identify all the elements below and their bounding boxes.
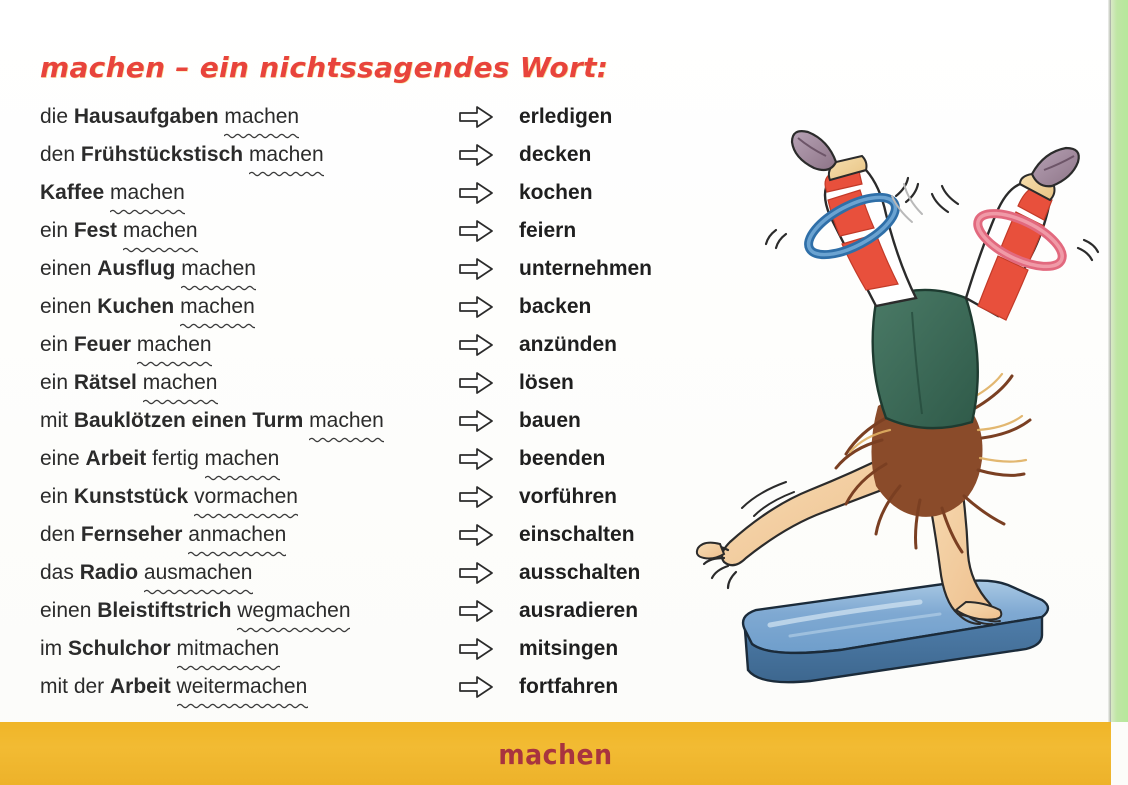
phrase-verb-machen: mitmachen xyxy=(177,635,280,662)
hollow-right-arrow-icon xyxy=(459,486,493,508)
collocation-row: die Hausaufgaben machenerledigen xyxy=(0,103,760,141)
phrase-cell: mit der Arbeit weitermachen xyxy=(0,673,445,700)
collocation-row: ein Rätsel machenlösen xyxy=(0,369,760,407)
arrow-cell xyxy=(445,407,507,432)
answer-verb: bauen xyxy=(507,407,581,434)
phrase-modifier: fertig xyxy=(152,447,205,470)
wavy-underline xyxy=(224,131,299,139)
answer-verb: anzünden xyxy=(507,331,617,358)
answer-verb: beenden xyxy=(507,445,605,472)
page-edge-green xyxy=(1111,0,1128,722)
phrase-keyword: Kaffee xyxy=(40,181,104,204)
answer-verb: unternehmen xyxy=(507,255,652,282)
phrase-article: ein xyxy=(40,371,74,394)
collocation-list: die Hausaufgaben machenerledigenden Früh… xyxy=(0,103,760,711)
answer-verb: vorführen xyxy=(507,483,617,510)
gym-mat xyxy=(743,581,1048,683)
phrase-verb-machen: machen xyxy=(143,369,218,396)
phrase-verb-machen: machen xyxy=(224,103,299,130)
wavy-underline xyxy=(188,549,286,557)
collocation-row: eine Arbeit fertig machenbeenden xyxy=(0,445,760,483)
phrase-cell: ein Feuer machen xyxy=(0,331,445,358)
phrase-cell: einen Ausflug machen xyxy=(0,255,445,282)
phrase-article: ein xyxy=(40,219,74,242)
hair xyxy=(836,350,1030,552)
collocation-row: mit der Arbeit weitermachenfortfahren xyxy=(0,673,760,711)
phrase-keyword: Arbeit xyxy=(86,447,147,470)
phrase-verb-machen: machen xyxy=(180,293,255,320)
phrase-article: im xyxy=(40,637,68,660)
arrow-cell xyxy=(445,255,507,280)
answer-verb: erledigen xyxy=(507,103,612,130)
arrow-cell xyxy=(445,483,507,508)
shorts xyxy=(873,290,978,428)
phrase-cell: eine Arbeit fertig machen xyxy=(0,445,445,472)
answer-verb: ausschalten xyxy=(507,559,640,586)
wavy-underline xyxy=(309,435,384,443)
phrase-verb-machen: machen xyxy=(309,407,384,434)
hollow-right-arrow-icon xyxy=(459,182,493,204)
wavy-underline xyxy=(144,587,253,595)
phrase-cell: ein Kunststück vormachen xyxy=(0,483,445,510)
collocation-row: den Fernseher anmacheneinschalten xyxy=(0,521,760,559)
hollow-right-arrow-icon xyxy=(459,524,493,546)
hollow-right-arrow-icon xyxy=(459,258,493,280)
phrase-cell: das Radio ausmachen xyxy=(0,559,445,586)
phrase-keyword: Bleistiftstrich xyxy=(97,599,231,622)
phrase-article: ein xyxy=(40,333,74,356)
phrase-verb-machen: anmachen xyxy=(188,521,286,548)
hollow-right-arrow-icon xyxy=(459,600,493,622)
phrase-keyword: Fernseher xyxy=(81,523,183,546)
wavy-underline xyxy=(177,663,280,671)
phrase-keyword: Hausaufgaben xyxy=(74,105,219,128)
phrase-article: eine xyxy=(40,447,86,470)
wavy-underline xyxy=(181,283,256,291)
collocation-row: einen Ausflug machenunternehmen xyxy=(0,255,760,293)
phrase-keyword: Bauklötzen einen Turm xyxy=(74,409,303,432)
phrase-keyword: Radio xyxy=(80,561,138,584)
footer-banner: machen xyxy=(0,722,1111,785)
arrow-cell xyxy=(445,597,507,622)
phrase-keyword: Kuchen xyxy=(97,295,174,318)
phrase-keyword: Kunststück xyxy=(74,485,188,508)
hollow-right-arrow-icon xyxy=(459,334,493,356)
worksheet-page: machen – ein nichtssagendes Wort: die Ha… xyxy=(0,0,1128,785)
collocation-row: ein Kunststück vormachenvorführen xyxy=(0,483,760,521)
collocation-row: Kaffee machenkochen xyxy=(0,179,760,217)
phrase-cell: einen Kuchen machen xyxy=(0,293,445,320)
footer-word: machen xyxy=(0,738,1111,771)
left-leg xyxy=(766,131,918,306)
hollow-right-arrow-icon xyxy=(459,144,493,166)
phrase-verb-machen: ausmachen xyxy=(144,559,253,586)
answer-verb: ausradieren xyxy=(507,597,638,624)
hollow-right-arrow-icon xyxy=(459,448,493,470)
phrase-keyword: Ausflug xyxy=(97,257,175,280)
phrase-article: mit xyxy=(40,409,74,432)
collocation-row: das Radio ausmachenausschalten xyxy=(0,559,760,597)
page-title: machen – ein nichtssagendes Wort: xyxy=(40,51,608,84)
arrow-cell xyxy=(445,293,507,318)
answer-verb: kochen xyxy=(507,179,593,206)
answer-verb: backen xyxy=(507,293,591,320)
right-leg xyxy=(892,148,1098,320)
hollow-right-arrow-icon xyxy=(459,562,493,584)
phrase-keyword: Fest xyxy=(74,219,117,242)
phrase-verb-machen: machen xyxy=(205,445,280,472)
arrow-cell xyxy=(445,635,507,660)
phrase-article: einen xyxy=(40,599,97,622)
phrase-article: einen xyxy=(40,295,97,318)
arrow-cell xyxy=(445,217,507,242)
phrase-cell: den Fernseher anmachen xyxy=(0,521,445,548)
collocation-row: im Schulchor mitmachenmitsingen xyxy=(0,635,760,673)
wavy-underline xyxy=(143,397,218,405)
collocation-row: mit Bauklötzen einen Turm machenbauen xyxy=(0,407,760,445)
wavy-underline xyxy=(180,321,255,329)
collocation-row: einen Bleistiftstrich wegmachenausradier… xyxy=(0,597,760,635)
phrase-keyword: Arbeit xyxy=(110,675,171,698)
phrase-keyword: Frühstückstisch xyxy=(81,143,243,166)
phrase-verb-machen: weitermachen xyxy=(177,673,308,700)
wavy-underline xyxy=(205,473,280,481)
phrase-verb-machen: machen xyxy=(137,331,212,358)
hollow-right-arrow-icon xyxy=(459,410,493,432)
phrase-article: einen xyxy=(40,257,97,280)
phrase-cell: mit Bauklötzen einen Turm machen xyxy=(0,407,445,434)
hollow-right-arrow-icon xyxy=(459,676,493,698)
collocation-row: ein Feuer machenanzünden xyxy=(0,331,760,369)
torso xyxy=(884,404,980,505)
wavy-underline xyxy=(110,207,185,215)
hollow-right-arrow-icon xyxy=(459,296,493,318)
answer-verb: lösen xyxy=(507,369,574,396)
wavy-underline xyxy=(249,169,324,177)
phrase-verb-machen: machen xyxy=(181,255,256,282)
answer-verb: decken xyxy=(507,141,591,168)
wavy-underline xyxy=(123,245,198,253)
collocation-row: einen Kuchen machenbacken xyxy=(0,293,760,331)
wavy-underline xyxy=(194,511,298,519)
hollow-right-arrow-icon xyxy=(459,106,493,128)
answer-verb: feiern xyxy=(507,217,576,244)
arrow-cell xyxy=(445,179,507,204)
arrow-cell xyxy=(445,445,507,470)
phrase-verb-machen: machen xyxy=(123,217,198,244)
phrase-verb-machen: wegmachen xyxy=(237,597,350,624)
collocation-row: den Frühstückstisch machendecken xyxy=(0,141,760,179)
phrase-article: das xyxy=(40,561,80,584)
wavy-underline xyxy=(177,701,308,709)
phrase-keyword: Feuer xyxy=(74,333,131,356)
arrow-cell xyxy=(445,331,507,356)
wavy-underline xyxy=(137,359,212,367)
support-arm xyxy=(922,460,1001,624)
arrow-cell xyxy=(445,673,507,698)
collocation-row: ein Fest machenfeiern xyxy=(0,217,760,255)
wavy-underline xyxy=(237,625,350,633)
phrase-verb-machen: machen xyxy=(249,141,324,168)
arrow-cell xyxy=(445,103,507,128)
phrase-article: ein xyxy=(40,485,74,508)
phrase-cell: einen Bleistiftstrich wegmachen xyxy=(0,597,445,624)
answer-verb: fortfahren xyxy=(507,673,618,700)
hollow-right-arrow-icon xyxy=(459,372,493,394)
phrase-article: die xyxy=(40,105,74,128)
phrase-article: mit der xyxy=(40,675,110,698)
phrase-verb-machen: machen xyxy=(110,179,185,206)
answer-verb: einschalten xyxy=(507,521,635,548)
phrase-cell: im Schulchor mitmachen xyxy=(0,635,445,662)
arrow-cell xyxy=(445,369,507,394)
arrow-cell xyxy=(445,521,507,546)
hollow-right-arrow-icon xyxy=(459,638,493,660)
phrase-cell: die Hausaufgaben machen xyxy=(0,103,445,130)
phrase-keyword: Rätsel xyxy=(74,371,137,394)
phrase-article: den xyxy=(40,143,81,166)
phrase-cell: den Frühstückstisch machen xyxy=(0,141,445,168)
hollow-right-arrow-icon xyxy=(459,220,493,242)
phrase-article: den xyxy=(40,523,81,546)
arrow-cell xyxy=(445,559,507,584)
phrase-cell: ein Fest machen xyxy=(0,217,445,244)
phrase-verb-machen: vormachen xyxy=(194,483,298,510)
phrase-cell: Kaffee machen xyxy=(0,179,445,206)
phrase-cell: ein Rätsel machen xyxy=(0,369,445,396)
phrase-keyword: Schulchor xyxy=(68,637,171,660)
answer-verb: mitsingen xyxy=(507,635,618,662)
arrow-cell xyxy=(445,141,507,166)
